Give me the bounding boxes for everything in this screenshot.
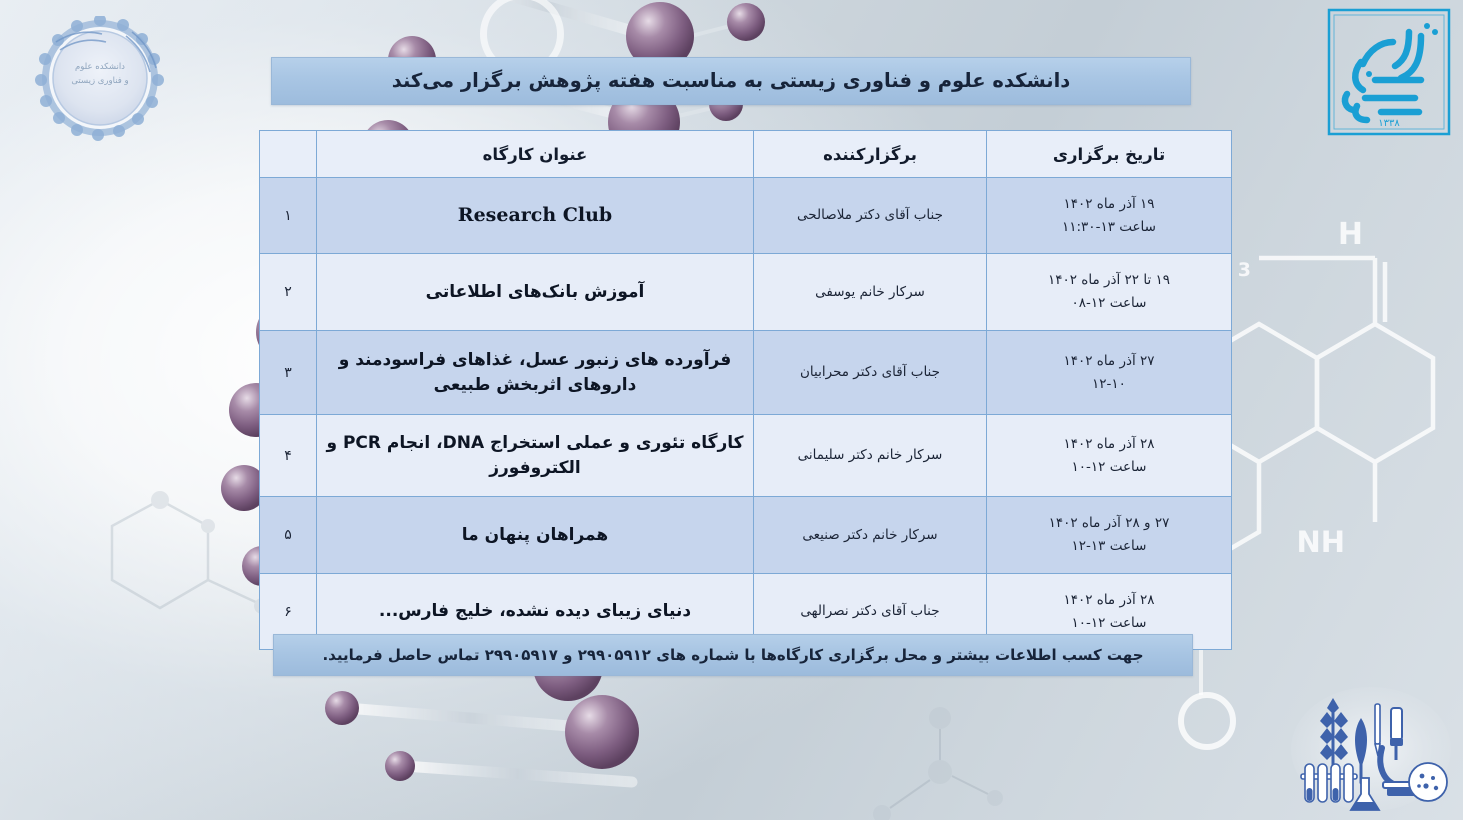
column-header-index [260, 131, 317, 178]
cell-host: سرکار خانم یوسفی [754, 254, 987, 331]
petri-dish-icon [1409, 763, 1447, 801]
ring-glyph-bottom [1178, 692, 1236, 750]
title-banner-text: دانشکده علوم و فناوری زیستی به مناسبت هف… [392, 71, 1071, 91]
pipette-icon [1375, 704, 1380, 756]
poster-canvas: CH 3 H NH [0, 0, 1463, 820]
shahid-beheshti-university-logo: ۱۳۳۸ [1323, 2, 1455, 142]
date-line-1: ۲۷ آذر ماه ۱۴۰۲ [993, 350, 1225, 373]
faculty-seal-logo: دانشکده علوم و فناوری زیستی [22, 16, 178, 142]
date-line-1: ۲۸ آذر ماه ۱۴۰۲ [993, 433, 1225, 456]
date-line-2: ساعت ۱۲-۰۸ [993, 292, 1225, 315]
cell-title: Research Club [317, 178, 754, 254]
cell-index: ۲ [260, 254, 317, 331]
cell-title: آموزش بانک‌های اطلاعاتی [317, 254, 754, 331]
table-row: ۲۸ آذر ماه ۱۴۰۲ ساعت ۱۲-۱۰ سرکار خانم دک… [260, 415, 1232, 497]
table-header-row: تاریخ برگزاری برگزارکننده عنوان کارگاه [260, 131, 1232, 178]
cell-date: ۲۷ و ۲۸ آذر ماه ۱۴۰۲ ساعت ۱۳-۱۲ [987, 497, 1232, 574]
cell-index: ۱ [260, 178, 317, 254]
table-row: ۲۷ و ۲۸ آذر ماه ۱۴۰۲ ساعت ۱۳-۱۲ سرکار خا… [260, 497, 1232, 574]
date-line-2: ساعت ۱۳-۱۲ [993, 535, 1225, 558]
contact-banner: جهت کسب اطلاعات بیشتر و محل برگزاری کارگ… [273, 634, 1193, 676]
table-row: ۱۹ آذر ماه ۱۴۰۲ ساعت ۱۳-۱۱:۳۰ جناب آقای … [260, 178, 1232, 254]
date-line-2: ساعت ۱۲-۱۰ [993, 456, 1225, 479]
cell-date: ۲۷ آذر ماه ۱۴۰۲ ۱۲-۱۰ [987, 331, 1232, 415]
svg-text:3: 3 [1238, 259, 1251, 281]
university-founding-year: ۱۳۳۸ [1378, 118, 1400, 129]
contact-banner-text: جهت کسب اطلاعات بیشتر و محل برگزاری کارگ… [322, 648, 1143, 663]
cell-date: ۲۸ آذر ماه ۱۴۰۲ ساعت ۱۲-۱۰ [987, 415, 1232, 497]
chem-label-nh: NH [1296, 525, 1345, 559]
date-line-2: ساعت ۱۳-۱۱:۳۰ [993, 216, 1225, 239]
cell-title: کارگاه تئوری و عملی استخراج DNA، انجام P… [317, 415, 754, 497]
column-header-title: عنوان کارگاه [317, 131, 754, 178]
chem-label-h: H [1338, 217, 1363, 252]
workshop-schedule-table: تاریخ برگزاری برگزارکننده عنوان کارگاه ۱… [259, 130, 1232, 650]
cell-date: ۱۹ آذر ماه ۱۴۰۲ ساعت ۱۳-۱۱:۳۰ [987, 178, 1232, 254]
table-header: تاریخ برگزاری برگزارکننده عنوان کارگاه [260, 131, 1232, 178]
table-row: ۲۷ آذر ماه ۱۴۰۲ ۱۲-۱۰ جناب آقای دکتر محر… [260, 331, 1232, 415]
date-line-2: ساعت ۱۲-۱۰ [993, 612, 1225, 635]
date-line-1: ۱۹ آذر ماه ۱۴۰۲ [993, 193, 1225, 216]
title-banner: دانشکده علوم و فناوری زیستی به مناسبت هف… [271, 57, 1191, 105]
cell-index: ۴ [260, 415, 317, 497]
cell-host: جناب آقای دکتر محرابیان [754, 331, 987, 415]
faculty-seal-line1: دانشکده علوم [22, 60, 178, 74]
date-line-2: ۱۲-۱۰ [993, 373, 1225, 396]
table-row: ۱۹ تا ۲۲ آذر ماه ۱۴۰۲ ساعت ۱۲-۰۸ سرکار خ… [260, 254, 1232, 331]
cell-host: جناب آقای دکتر ملاصالحی [754, 178, 987, 254]
cell-index: ۳ [260, 331, 317, 415]
cell-title: فرآورده های زنبور عسل، غذاهای فراسودمند … [317, 331, 754, 415]
date-line-1: ۲۸ آذر ماه ۱۴۰۲ [993, 589, 1225, 612]
cell-title: همراهان پنهان ما [317, 497, 754, 574]
column-header-date: تاریخ برگزاری [987, 131, 1232, 178]
column-header-host: برگزارکننده [754, 131, 987, 178]
faculty-seal-line2: و فناوری زیستی [22, 74, 178, 88]
faculty-seal-text: دانشکده علوم و فناوری زیستی [22, 60, 178, 88]
cell-host: سرکار خانم دکتر صنیعی [754, 497, 987, 574]
date-line-1: ۲۷ و ۲۸ آذر ماه ۱۴۰۲ [993, 512, 1225, 535]
date-line-1: ۱۹ تا ۲۲ آذر ماه ۱۴۰۲ [993, 269, 1225, 292]
cell-index: ۵ [260, 497, 317, 574]
molecule-glyph [820, 690, 1050, 820]
lab-illustration-logo [1287, 682, 1455, 816]
cell-host: سرکار خانم دکتر سلیمانی [754, 415, 987, 497]
cell-date: ۱۹ تا ۲۲ آذر ماه ۱۴۰۲ ساعت ۱۲-۰۸ [987, 254, 1232, 331]
table-body: ۱۹ آذر ماه ۱۴۰۲ ساعت ۱۳-۱۱:۳۰ جناب آقای … [260, 178, 1232, 650]
